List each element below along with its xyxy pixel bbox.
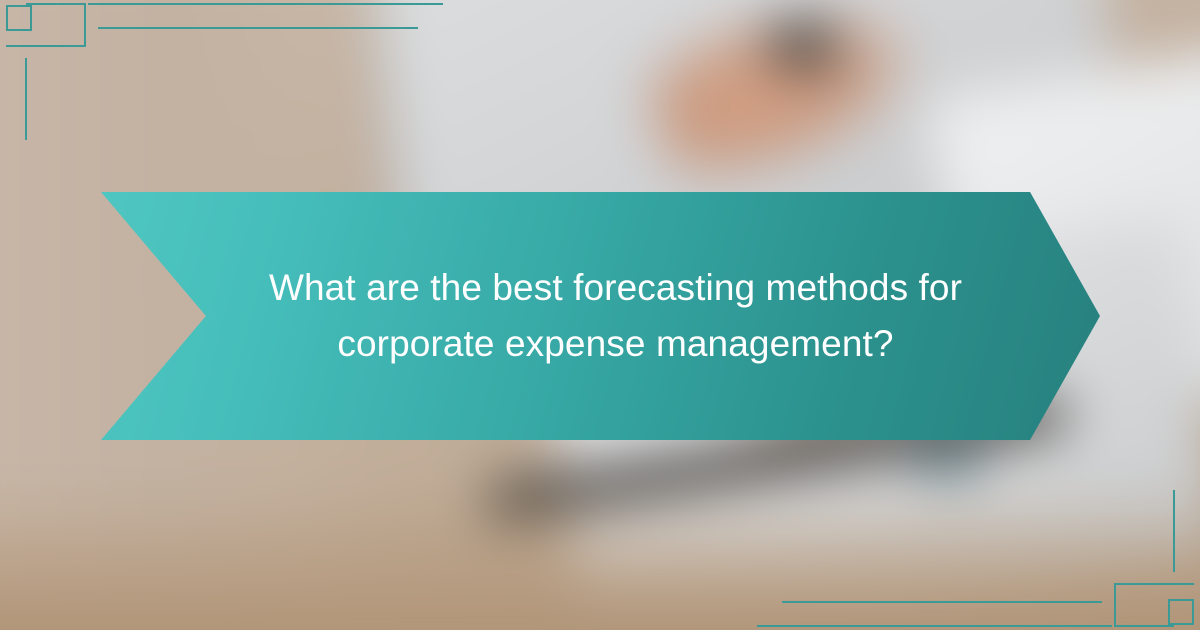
ornament-rule-outer [757,625,1112,627]
ornament-vertical-rule [1173,490,1175,572]
ornament-rule-outer [88,3,443,5]
headline-text: What are the best forecasting methods fo… [239,260,962,372]
corner-ornament-bottom-right [1040,480,1200,630]
ornament-bracket-right [1114,583,1116,627]
headline-line-1: What are the best forecasting methods fo… [269,260,962,316]
ornament-bracket-top [26,3,86,5]
ornament-vertical-rule [25,58,27,140]
corner-ornament-top-left [0,0,160,150]
ornament-rule-inner [782,601,1102,603]
headline-line-2: corporate expense management? [269,316,962,372]
ornament-square-icon [6,5,32,31]
chevron-banner: What are the best forecasting methods fo… [101,192,1100,440]
desk-bottom-shading [0,487,1200,630]
ornament-bracket-right [84,3,86,47]
headline-banner-container: What are the best forecasting methods fo… [101,192,1100,440]
ornament-bracket-top [1114,625,1174,627]
slide-canvas: What are the best forecasting methods fo… [0,0,1200,630]
ornament-bracket-bottom [6,45,86,47]
ornament-square-icon [1168,599,1194,625]
ornament-bracket-bottom [1114,583,1194,585]
ornament-rule-inner [98,27,418,29]
pen-tip-blur [766,19,839,73]
